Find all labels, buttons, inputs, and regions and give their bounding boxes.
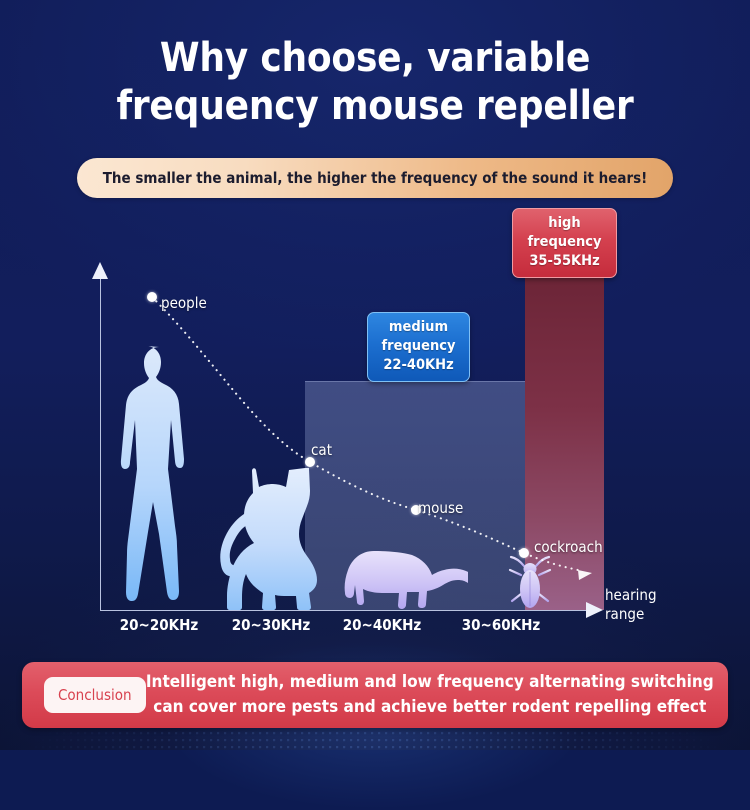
conclusion-line-1: Intelligent high, medium and low frequen… [146,670,714,695]
conclusion-banner: Conclusion Intelligent high, medium and … [22,662,728,728]
x-axis-tick-3: 30~60KHz [441,616,561,634]
data-label-cat: cat [311,441,332,459]
hearing-trend-curve [0,0,750,660]
x-axis-label-line-1: hearing [605,586,657,605]
frequency-chart: medium frequency 22-40KHz high frequency… [0,0,750,660]
x-axis-label-line-2: range [605,605,657,624]
data-point-people [147,292,157,302]
x-axis-tick-1: 20~30KHz [211,616,331,634]
data-point-cockroach [519,548,529,558]
conclusion-line-2: can cover more pests and achieve better … [146,695,714,720]
conclusion-pill-label: Conclusion [44,677,146,713]
data-label-cockroach: cockroach [534,538,603,556]
conclusion-text: Intelligent high, medium and low frequen… [146,670,728,720]
x-axis-tick-2: 20~40KHz [322,616,442,634]
data-label-mouse: mouse [418,499,463,517]
x-axis-tick-0: 20~20KHz [99,616,219,634]
data-label-people: people [161,294,207,312]
x-axis-label: hearing range [605,586,657,624]
